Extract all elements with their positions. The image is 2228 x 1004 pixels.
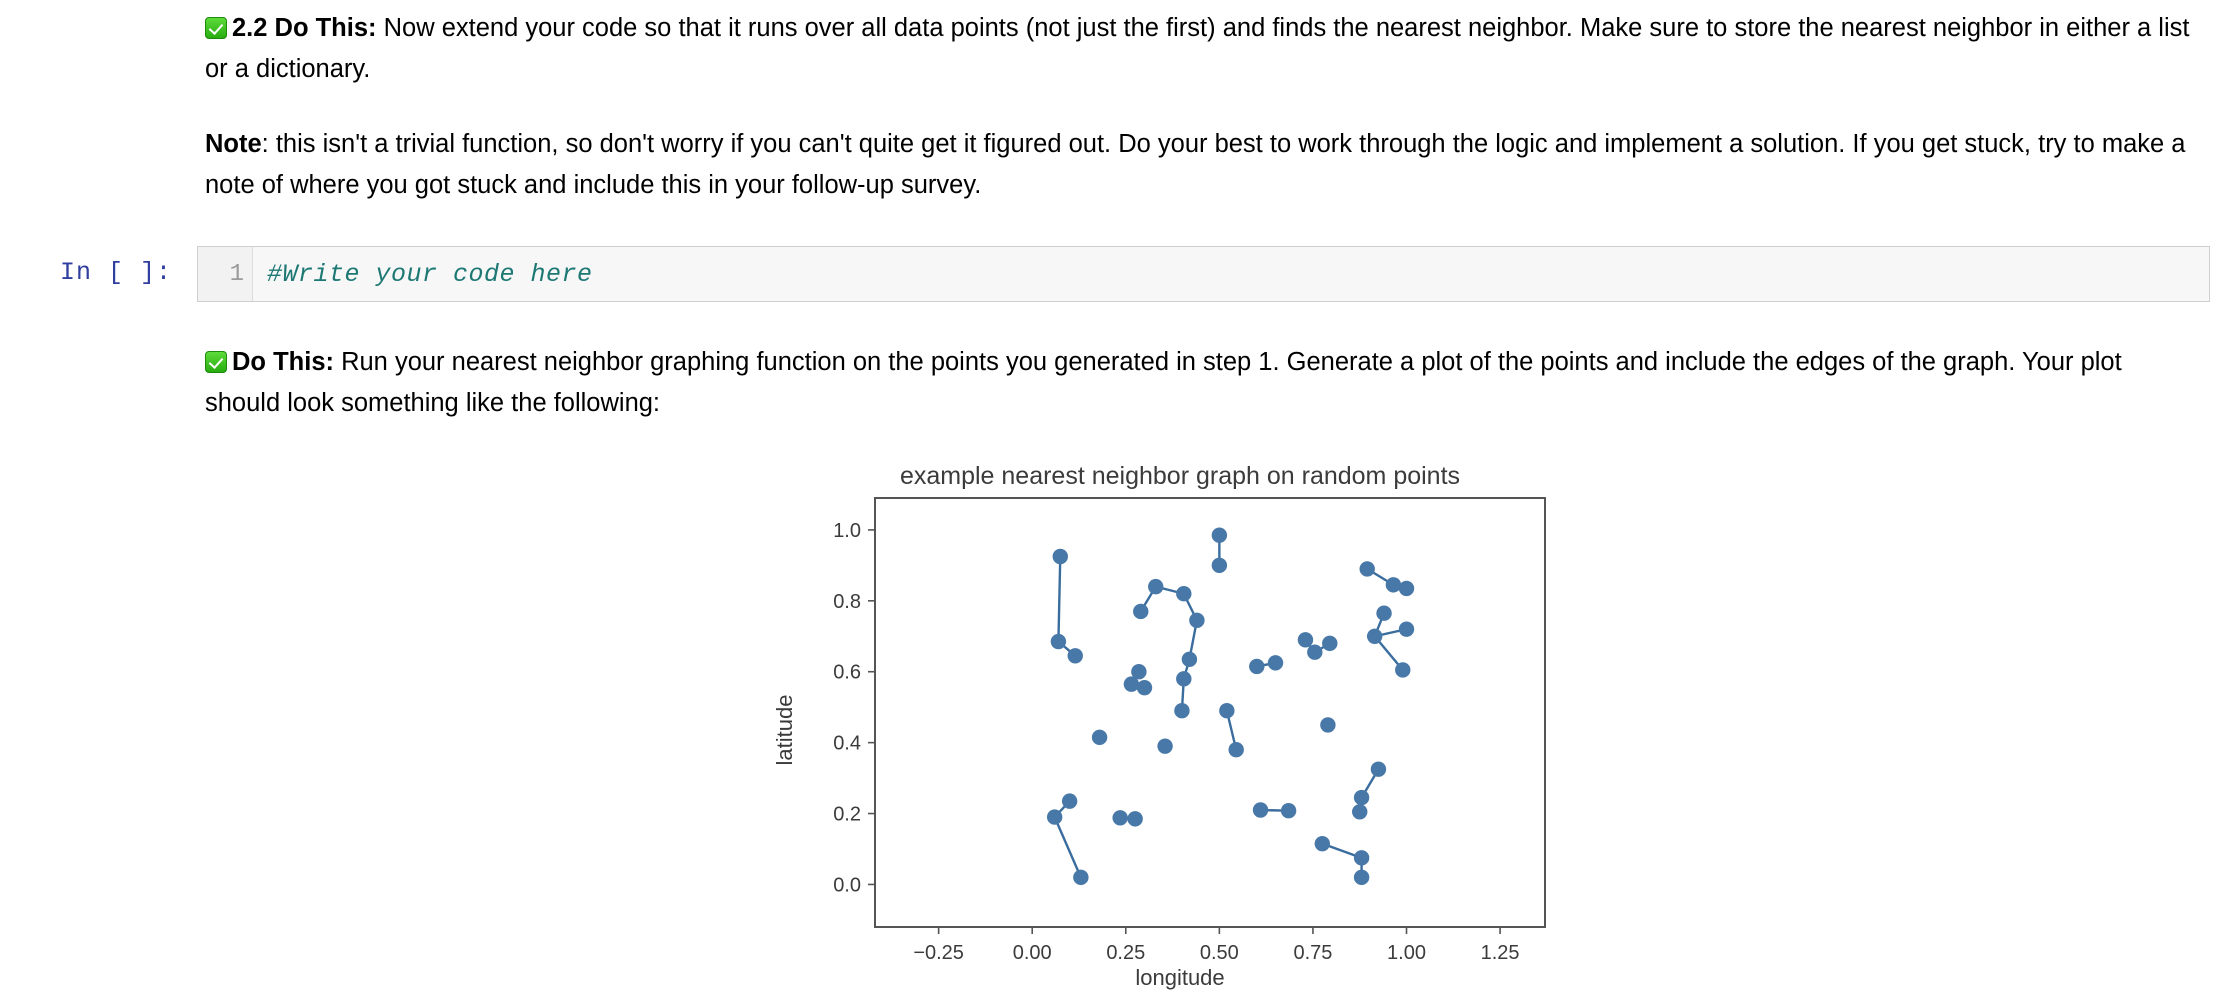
- scatter-point: [1307, 645, 1322, 660]
- y-tick-label: 0.8: [833, 591, 861, 613]
- scatter-point: [1399, 621, 1414, 636]
- markdown-cell-note: Note: this isn't a trivial function, so …: [205, 124, 2195, 206]
- scatter-point: [1298, 632, 1313, 647]
- scatter-point: [1354, 790, 1369, 805]
- x-tick-label: 0.25: [1106, 942, 1145, 964]
- scatter-point: [1174, 703, 1189, 718]
- x-axis-label: longitude: [1135, 965, 1224, 990]
- scatter-point: [1051, 634, 1066, 649]
- input-prompt-label: In [ ]:: [60, 258, 190, 287]
- scatter-point: [1352, 804, 1367, 819]
- scatter-point: [1367, 629, 1382, 644]
- markdown-paragraph: 2.2 Do This: Now extend your code so tha…: [205, 8, 2195, 90]
- scatter-point: [1249, 659, 1264, 674]
- code-cell[interactable]: In [ ]: 1 #Write your code here: [0, 246, 2228, 302]
- y-tick-label: 0.2: [833, 804, 861, 826]
- scatter-point: [1315, 836, 1330, 851]
- scatter-point: [1281, 803, 1296, 818]
- scatter-point: [1137, 680, 1152, 695]
- line-number-gutter: 1: [198, 247, 253, 301]
- scatter-point: [1157, 738, 1172, 753]
- scatter-point: [1268, 655, 1283, 670]
- white-check-mark-icon: [205, 351, 227, 373]
- scatter-point: [1322, 636, 1337, 651]
- x-tick-label: −0.25: [913, 942, 964, 964]
- nearest-neighbor-scatter-plot: example nearest neighbor graph on random…: [770, 440, 1590, 1000]
- markdown-paragraph: Note: this isn't a trivial function, so …: [205, 124, 2195, 206]
- plot-output-image: example nearest neighbor graph on random…: [770, 440, 1590, 1000]
- scatter-point: [1219, 703, 1234, 718]
- x-tick-label: 0.50: [1200, 942, 1239, 964]
- scatter-point: [1182, 652, 1197, 667]
- scatter-point: [1360, 561, 1375, 576]
- scatter-point: [1124, 676, 1139, 691]
- scatter-point: [1189, 613, 1204, 628]
- markdown-cell-do-this: Do This: Run your nearest neighbor graph…: [205, 342, 2195, 424]
- do-this-label: Do This:: [232, 348, 334, 376]
- scatter-point: [1068, 648, 1083, 663]
- scatter-point: [1354, 850, 1369, 865]
- x-tick-label: 1.25: [1481, 942, 1520, 964]
- do-this-label: 2.2 Do This:: [232, 14, 377, 42]
- scatter-point: [1047, 809, 1062, 824]
- note-label: Note: [205, 130, 262, 158]
- scatter-point: [1148, 579, 1163, 594]
- code-source-line[interactable]: #Write your code here: [253, 247, 2209, 301]
- x-tick-label: 0.00: [1013, 942, 1052, 964]
- scatter-point: [1176, 586, 1191, 601]
- code-editor[interactable]: 1 #Write your code here: [197, 246, 2210, 302]
- scatter-point: [1127, 811, 1142, 826]
- scatter-point: [1253, 802, 1268, 817]
- y-tick-label: 1.0: [833, 520, 861, 542]
- y-tick-label: 0.6: [833, 662, 861, 684]
- scatter-point: [1386, 577, 1401, 592]
- y-tick-label: 0.0: [833, 874, 861, 896]
- scatter-point: [1062, 793, 1077, 808]
- scatter-point: [1212, 528, 1227, 543]
- markdown-cell-2-2-do-this: 2.2 Do This: Now extend your code so tha…: [205, 8, 2195, 90]
- markdown-paragraph: Do This: Run your nearest neighbor graph…: [205, 342, 2195, 424]
- instruction-text: Now extend your code so that it runs ove…: [205, 14, 2189, 83]
- note-text: : this isn't a trivial function, so don'…: [205, 130, 2186, 199]
- scatter-point: [1354, 870, 1369, 885]
- scatter-point: [1229, 742, 1244, 757]
- scatter-point: [1399, 581, 1414, 596]
- scatter-point: [1212, 558, 1227, 573]
- chart-title: example nearest neighbor graph on random…: [900, 462, 1460, 490]
- y-tick-label: 0.4: [833, 733, 861, 755]
- scatter-point: [1395, 662, 1410, 677]
- scatter-point: [1053, 549, 1068, 564]
- x-tick-label: 1.00: [1387, 942, 1426, 964]
- scatter-point: [1376, 606, 1391, 621]
- scatter-point: [1176, 671, 1191, 686]
- scatter-point: [1092, 730, 1107, 745]
- scatter-point: [1133, 604, 1148, 619]
- y-axis-label: latitude: [772, 695, 797, 766]
- instruction-text: Run your nearest neighbor graphing funct…: [205, 348, 2122, 417]
- x-tick-label: 0.75: [1293, 942, 1332, 964]
- scatter-point: [1371, 762, 1386, 777]
- scatter-point: [1112, 810, 1127, 825]
- scatter-point: [1320, 717, 1335, 732]
- scatter-point: [1073, 870, 1088, 885]
- white-check-mark-icon: [205, 17, 227, 39]
